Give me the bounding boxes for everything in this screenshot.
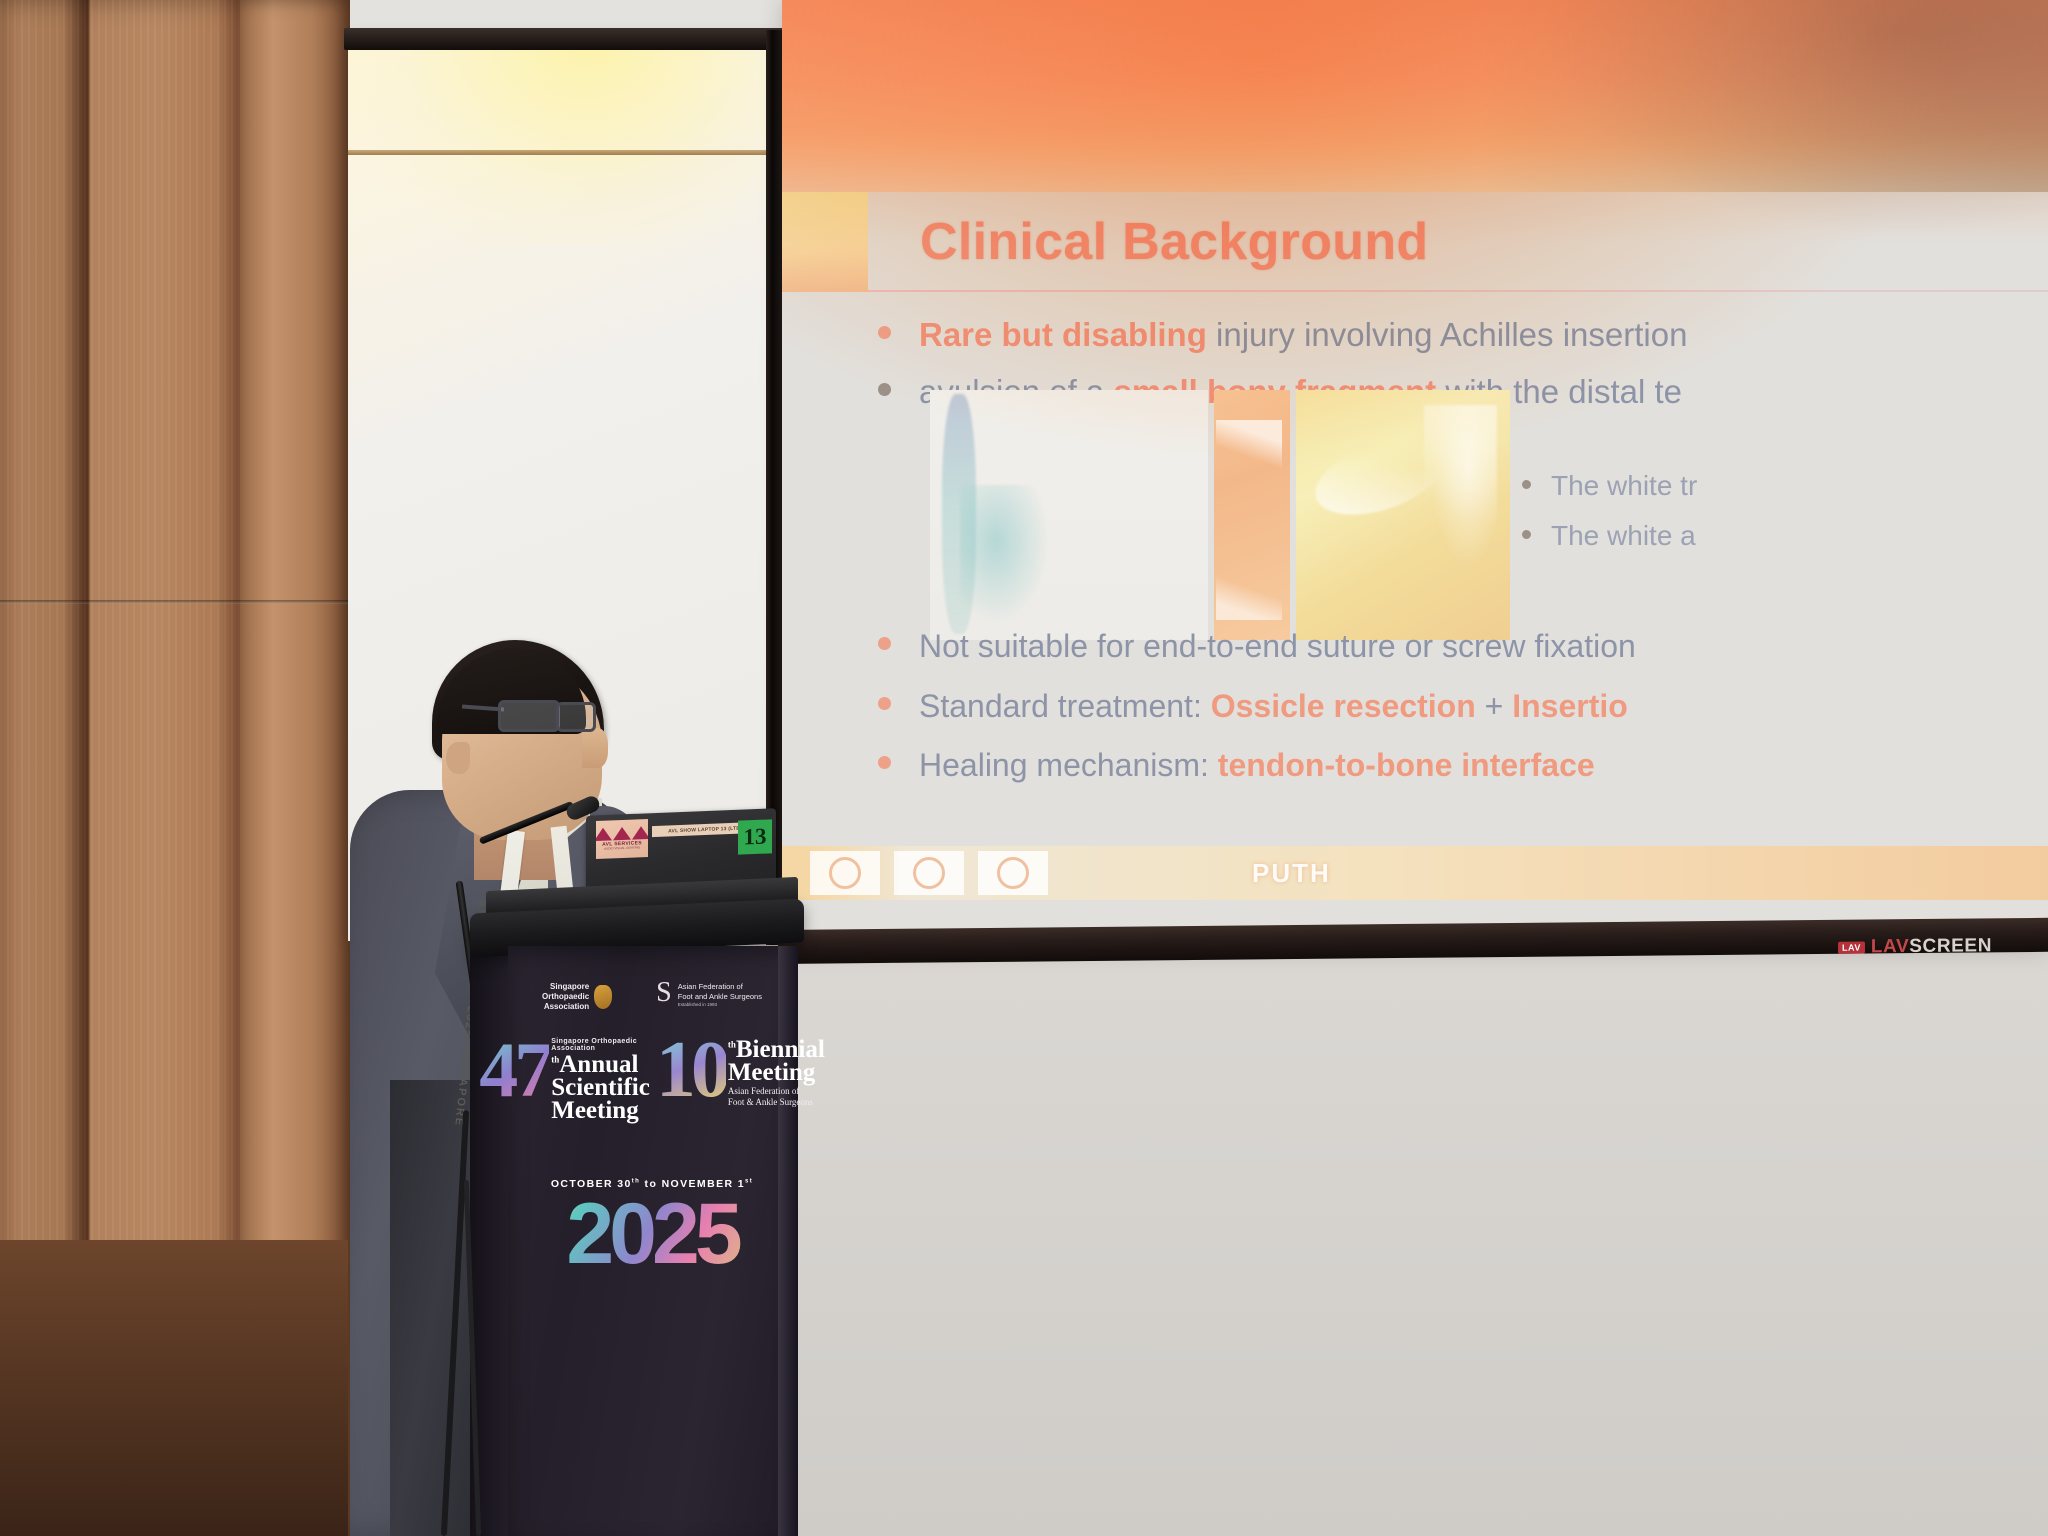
soa-society-line: Singapore Orthopaedic Association [551,1038,650,1052]
bullet-text: injury involving Achilles insertion [1207,316,1688,353]
bullet-item: Standard treatment: Ossicle resection + … [878,686,2048,728]
projector-glow [348,36,780,246]
title-underline [868,290,2048,292]
bullet-emphasis: Rare but disabling [919,316,1207,353]
meeting-right-subtitle: Asian Federation of Foot & Ankle Surgeon… [728,1086,825,1108]
side-note-item: The white tr [1522,468,2042,504]
main-projection-screen: Clinical Background Rare but disabling i… [782,0,2048,948]
presentation-room-photo: Clinical Background Rare but disabling i… [0,0,2048,1536]
figure-mri-strip [1214,390,1290,640]
wood-panel-seam [0,600,348,604]
bullet-dot-icon [878,756,891,769]
glasses-lens-right [556,702,596,732]
footer-logo-2-icon [894,851,964,895]
glasses-lens-left [498,700,560,732]
affas-org-text: Asian Federation of Foot and Ankle Surge… [678,982,762,1007]
bullet-text: Standard treatment: [919,688,1211,724]
avl-logo-icon [596,826,648,841]
screen-brand-label: LAV LAVSCREEN [1838,935,1992,958]
banner-org-row: Singapore Orthopaedic Association S Asia… [520,982,784,1012]
laptop-station-number: 13 [738,819,772,854]
bullet-dot-icon [1522,530,1531,539]
soa-crest-icon [594,985,612,1009]
figure-lateral-radiograph [930,390,1208,640]
meeting-number-10: 10 [656,1038,726,1104]
conference-banner: Singapore Orthopaedic Association S Asia… [520,972,784,1532]
presentation-slide: Clinical Background Rare but disabling i… [782,0,2048,948]
bullet-dot-icon [878,637,891,650]
slide-title-row: Clinical Background [782,192,2048,292]
screen-frame-divider [348,150,780,155]
figure-mri-achilles [1296,390,1510,640]
bullet-dot-icon [878,383,891,396]
slide-footer-strip: PUTH [782,846,2048,900]
screen-frame-top [344,28,784,50]
bullet-text: Healing mechanism: [919,747,1218,783]
slide-bullets-bottom: Not suitable for end-to-end suture or sc… [878,626,2048,805]
avl-sticker-subtitle: AUDIO VISUAL LIGHTING [604,847,640,852]
bullet-dot-icon [1522,480,1531,489]
side-note-text: The white tr [1551,468,1697,504]
meeting-number-47: 47 [479,1038,549,1102]
bullet-dot-icon [878,326,891,339]
affas-org-logo: S Asian Federation of Foot and Ankle Sur… [656,982,762,1007]
speaker-ear [446,742,470,774]
bullet-item: Rare but disabling injury involving Achi… [878,314,2048,357]
lav-badge-icon: LAV [1838,941,1865,953]
wood-wall-shadow [0,1240,348,1536]
footer-brand: PUTH [1252,858,1331,889]
slide-title: Clinical Background [920,212,1428,272]
footer-logo-1-icon [810,851,880,895]
bullet-emphasis: tendon-to-bone interface [1218,747,1595,783]
title-accent-block [782,192,868,292]
bullet-item: Healing mechanism: tendon-to-bone interf… [878,745,2048,787]
soa-org-text: Singapore Orthopaedic Association [542,982,589,1012]
footer-logo-3-icon [978,851,1048,895]
bullet-emphasis: Ossicle resection [1211,688,1476,724]
screen-brand-name: LAVSCREEN [1871,935,1992,958]
slide-figure-group [930,390,1510,640]
bullet-text: + [1476,688,1512,724]
soa-org-logo: Singapore Orthopaedic Association [542,982,612,1012]
avl-services-sticker: AVL SERVICES AUDIO VISUAL LIGHTING [596,819,648,859]
bullet-emphasis: Insertio [1512,688,1628,724]
bullet-item: Not suitable for end-to-end suture or sc… [878,626,2048,668]
meeting-left-title: thAnnual Scientific Meeting [551,1053,650,1122]
banner-year: 2025 [520,1196,784,1273]
bullet-text: Not suitable for end-to-end suture or sc… [919,626,1636,668]
meeting-right-title: thBiennial Meeting [728,1038,825,1084]
slide-side-notes: The white tr The white a [1522,468,2042,569]
slide-header-band [782,0,2048,192]
banner-meetings-row: 47 Singapore Orthopaedic Association thA… [520,1038,784,1122]
affas-monogram-icon: S [656,982,672,1004]
bullet-dot-icon [878,697,891,710]
side-note-item: The white a [1522,518,2042,554]
side-note-text: The white a [1551,518,1696,554]
